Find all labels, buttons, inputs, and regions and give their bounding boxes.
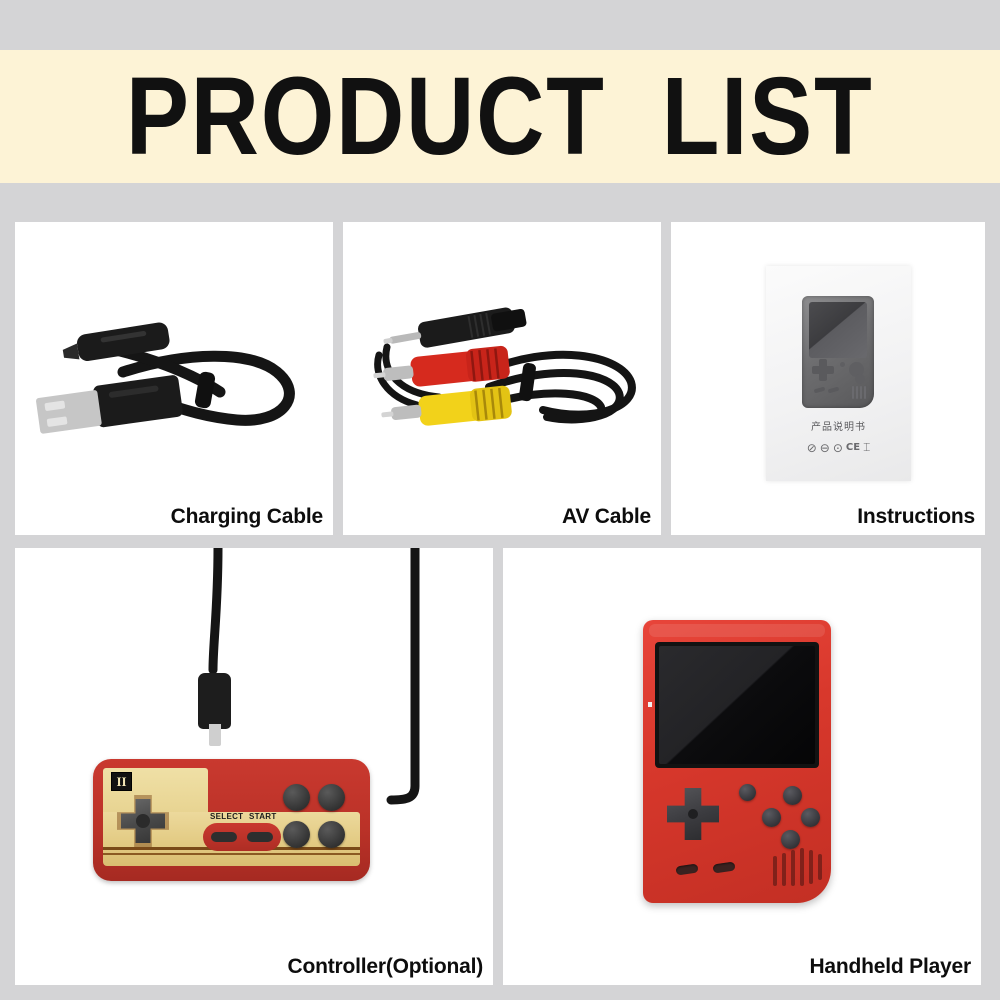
controller-button-turbo-b <box>283 821 310 848</box>
no-entry-icon: ⊘ <box>807 441 817 455</box>
booklet-pill-button <box>828 387 840 394</box>
controller-start-button <box>247 832 273 842</box>
product-card-controller[interactable]: II SELECT START Controller(Optional) <box>15 548 493 985</box>
controller-button-b <box>283 784 310 811</box>
charging-cable-image <box>15 252 333 512</box>
handheld-screen <box>659 646 815 764</box>
product-card-handheld[interactable]: Handheld Player <box>503 548 981 985</box>
ce-mark-icon: CE <box>846 442 860 453</box>
controller-dpad <box>117 795 169 847</box>
handheld-speaker-vent <box>782 853 786 886</box>
instruction-booklet: 产品说明书 ⊘ ⊖ ⊙ CE ⌶ <box>766 266 911 481</box>
controller-usb-plug <box>198 673 231 729</box>
handheld-console-body <box>643 620 831 903</box>
controller-start-label: START <box>249 812 277 821</box>
product-card-charging-cable[interactable]: Charging Cable <box>15 222 333 535</box>
booklet-dpad <box>819 359 827 381</box>
controller-select-label: SELECT <box>210 812 243 821</box>
booklet-title-chinese: 产品说明书 <box>766 418 911 433</box>
booklet-console-illustration <box>802 296 874 408</box>
card-label: AV Cable <box>562 505 651 529</box>
card-label: Instructions <box>857 505 975 529</box>
controller-player-badge: II <box>111 772 132 791</box>
handheld-select-button <box>675 864 698 876</box>
handheld-button-menu <box>739 784 756 801</box>
recycle-circle-icon: ⊙ <box>833 441 843 455</box>
handheld-dpad <box>667 788 719 840</box>
handheld-button-x <box>783 786 802 805</box>
handheld-speaker-vent <box>791 850 795 886</box>
handheld-button-a <box>801 808 820 827</box>
recycle-circle-icon: ⊖ <box>820 441 830 455</box>
handheld-top-lip <box>649 624 825 637</box>
booklet-vent <box>860 386 862 399</box>
handheld-button-y <box>762 808 781 827</box>
handheld-speaker-vent <box>809 850 813 884</box>
controller-usb-plug-tip <box>209 724 221 746</box>
controller-button-turbo-a <box>318 821 345 848</box>
controller-dpad-center <box>136 814 150 828</box>
product-list-infographic: PRODUCT LIST <box>0 0 1000 1000</box>
booklet-vent <box>856 386 858 399</box>
handheld-button-b <box>781 830 800 849</box>
controller-stripe <box>103 853 360 855</box>
booklet-pill-button <box>814 387 826 394</box>
header-banner: PRODUCT LIST <box>0 50 1000 183</box>
card-label: Charging Cable <box>171 505 323 529</box>
av-cable-image <box>343 247 661 507</box>
product-card-av-cable[interactable]: AV Cable <box>343 222 661 535</box>
booklet-button <box>840 362 845 367</box>
waste-bin-icon: ⌶ <box>863 440 870 455</box>
controller-select-button <box>211 832 237 842</box>
handheld-speaker-vent <box>773 856 777 886</box>
card-label: Controller(Optional) <box>288 955 483 979</box>
controller-body: II SELECT START <box>93 759 370 881</box>
card-label: Handheld Player <box>809 955 971 979</box>
controller-select-start-housing <box>203 823 281 851</box>
booklet-console-screen <box>809 302 867 358</box>
controller-button-a <box>318 784 345 811</box>
handheld-screen-bezel <box>655 642 819 768</box>
handheld-speaker-vent <box>800 848 804 886</box>
handheld-power-led <box>648 702 652 707</box>
product-card-instructions[interactable]: 产品说明书 ⊘ ⊖ ⊙ CE ⌶ Instructions <box>671 222 985 535</box>
booklet-certification-symbols: ⊘ ⊖ ⊙ CE ⌶ <box>766 440 911 455</box>
booklet-vent <box>852 386 854 399</box>
handheld-speaker-vent <box>818 854 822 880</box>
handheld-dpad-center <box>688 809 698 819</box>
booklet-vent <box>864 386 866 399</box>
handheld-start-button <box>712 862 735 874</box>
page-title: PRODUCT LIST <box>126 62 874 172</box>
booklet-button <box>855 374 865 384</box>
